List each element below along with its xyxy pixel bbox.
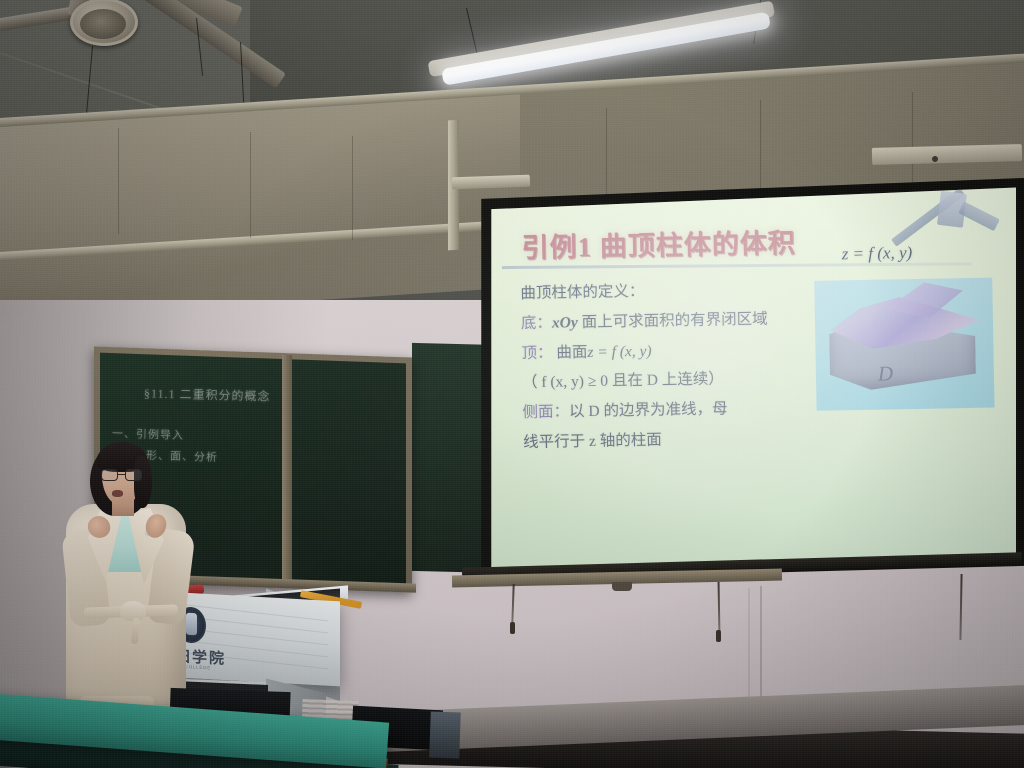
eyeglass-lens-left xyxy=(101,469,118,481)
slide-line-4: （ f (x, y) ≥ 0 且在 D 上连续） xyxy=(522,370,842,392)
figure-region-label: D xyxy=(878,361,894,386)
lecturer-mouth xyxy=(112,490,123,497)
hanging-cord-tip[interactable] xyxy=(716,630,721,642)
slide-line-2: 底：xOy 面上可求面积的有界闭区域 xyxy=(521,310,841,332)
slide-title: 引例1 曲顶柱体的体积 xyxy=(521,221,796,265)
lecturer-hair-side xyxy=(134,456,152,508)
ceiling-fan-icon xyxy=(18,0,268,88)
slide-line-1: 曲顶柱体的定义： xyxy=(520,280,840,302)
slide-corner-formula: z = f (x, y) xyxy=(842,243,913,264)
eyeglass-lens-right xyxy=(125,469,142,481)
projection-screen-surface: 引例1 曲顶柱体的体积 z = f (x, y) D 曲顶柱体的定义： 底：xO… xyxy=(486,186,1016,572)
hanging-cord-tip[interactable] xyxy=(510,622,515,634)
slide-line-2-rest: 面上可求面积的有界闭区域 xyxy=(578,310,768,330)
slide-line-3-math: z = f (x, y) xyxy=(587,342,652,360)
slide-line-5: 侧面：以 D 的边界为准线，母 xyxy=(522,400,842,422)
eyeglasses-icon xyxy=(101,469,143,481)
classroom-photo: §11.1 二重积分的概念 一、引例导入 形、面、分析 引例1 曲顶柱体的体积 … xyxy=(0,0,1024,768)
chalk-text-line-1: §11.1 二重积分的概念 xyxy=(144,384,271,404)
slide-line-5-label: 侧面： xyxy=(522,404,569,422)
floor-equipment-box xyxy=(429,711,461,758)
chalkboard-divider xyxy=(282,355,292,583)
slide-line-3: 顶： 曲面z = f (x, y) xyxy=(521,340,841,362)
slide-line-2-label: 底： xyxy=(521,314,552,332)
slide-line-2-math: xOy xyxy=(552,314,578,331)
slide-line-3-label: 顶： xyxy=(521,344,552,362)
slide-body: 曲顶柱体的定义： 底：xOy 面上可求面积的有界闭区域 顶： 曲面z = f (… xyxy=(520,280,843,465)
wall-panel-seam xyxy=(118,128,119,234)
upper-wall-highlight xyxy=(0,87,520,320)
arrow-tail xyxy=(958,201,1000,231)
screen-mount-sensor-icon xyxy=(932,156,938,162)
slide-content: 引例1 曲顶柱体的体积 z = f (x, y) D 曲顶柱体的定义： 底：xO… xyxy=(486,186,1016,572)
wall-panel-seam xyxy=(912,92,913,188)
slide-line-5-rest: 以 D 的边界为准线，母 xyxy=(569,401,728,421)
slide-line-6: 线平行于 z 轴的柱面 xyxy=(523,429,843,451)
fan-hub-inner xyxy=(80,9,126,39)
screen-ledge-bracket xyxy=(612,582,632,591)
slide-line-3-rest: 曲面 xyxy=(552,344,587,362)
wall-panel-seam xyxy=(760,100,761,200)
wall-panel-seam xyxy=(250,132,251,238)
wall-panel-seam xyxy=(352,136,353,240)
